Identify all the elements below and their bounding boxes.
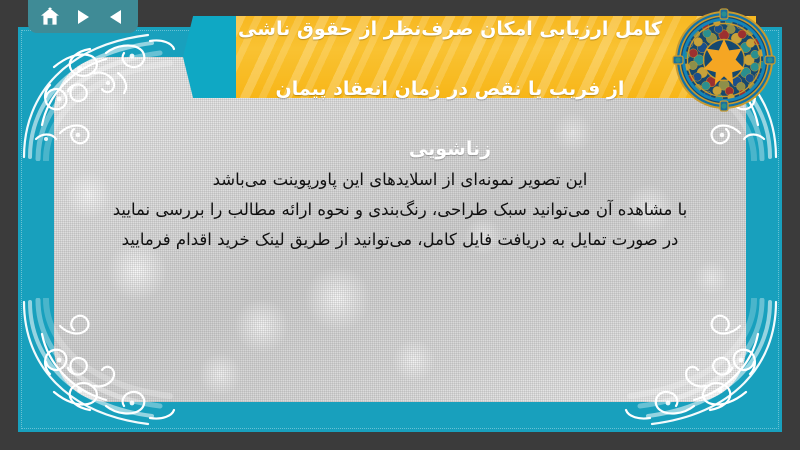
slide-viewer: این تصویر نمونه‌ای از اسلایدهای این پاور… <box>0 0 800 450</box>
slide-body-text: این تصویر نمونه‌ای از اسلایدهای این پاور… <box>78 165 722 255</box>
body-line-1: این تصویر نمونه‌ای از اسلایدهای این پاور… <box>78 165 722 195</box>
navigation-bar <box>28 0 138 33</box>
title-line-1: کامل ارزیابی امکان صرف‌نظر از حقوق ناشی <box>238 18 662 40</box>
persian-medallion-ornament <box>672 8 776 112</box>
body-line-3: در صورت تمایل به دریافت فایل کامل، می‌تو… <box>78 225 722 255</box>
title-line-3: زناشویی <box>409 138 491 160</box>
home-icon <box>39 6 61 28</box>
page-title: کامل ارزیابی امکان صرف‌نظر از حقوق ناشی … <box>170 0 730 164</box>
triangle-left-icon <box>106 7 126 27</box>
triangle-right-icon <box>73 7 93 27</box>
body-line-2: با مشاهده آن می‌توانید سبک طراحی، رنگ‌بن… <box>78 195 722 225</box>
forward-button[interactable] <box>72 6 94 28</box>
home-button[interactable] <box>39 6 61 28</box>
title-line-2: از فریب یا نقص در زمان انعقاد پیمان <box>276 78 625 100</box>
back-button[interactable] <box>105 6 127 28</box>
